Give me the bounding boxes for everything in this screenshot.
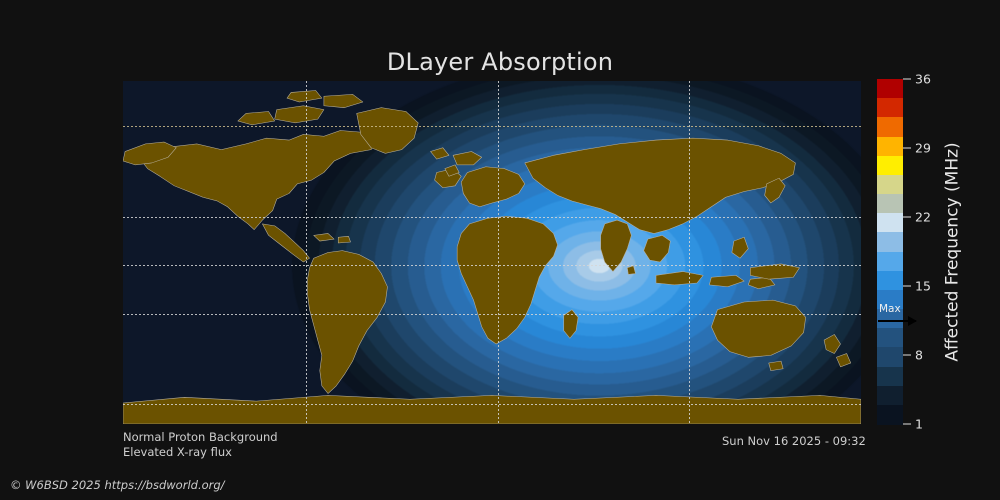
colorbar-tick-mark	[903, 216, 911, 218]
colorbar-max-marker: Max	[877, 303, 929, 333]
colorbar-tick-label: 36	[915, 72, 931, 87]
colorbar-tick-label: 15	[915, 279, 931, 294]
colorbar-tick-label: 1	[915, 417, 923, 432]
colorbar-tick-mark	[903, 147, 911, 149]
page-title: DLayer Absorption	[0, 48, 1000, 76]
colorbar-tick: 22	[903, 210, 931, 225]
colorbar-tick-label: 29	[915, 141, 931, 156]
status-line-proton: Normal Proton Background	[123, 430, 278, 444]
max-marker-arrow-icon	[878, 320, 916, 322]
app-root: DLayer Absorption	[0, 0, 1000, 500]
colorbar-band	[877, 79, 903, 99]
colorbar-tick: 15	[903, 279, 931, 294]
colorbar-tick: 8	[903, 348, 923, 363]
colorbar-tick: 36	[903, 72, 931, 87]
timestamp: Sun Nov 16 2025 - 09:32	[722, 434, 866, 448]
colorbar-band	[877, 213, 903, 233]
colorbar	[877, 79, 903, 424]
colorbar-band	[877, 386, 903, 406]
world-coastlines	[123, 81, 861, 424]
colorbar-band	[877, 405, 903, 425]
colorbar-band	[877, 194, 903, 214]
colorbar-tick: 29	[903, 141, 931, 156]
status-line-xray: Elevated X-ray flux	[123, 445, 232, 459]
colorbar-tick-label: 22	[915, 210, 931, 225]
colorbar-band	[877, 232, 903, 252]
colorbar-band	[877, 117, 903, 137]
colorbar-tick-mark	[903, 423, 911, 425]
colorbar-band	[877, 367, 903, 387]
colorbar-band	[877, 175, 903, 195]
colorbar-tick-mark	[903, 354, 911, 356]
colorbar-band	[877, 347, 903, 367]
colorbar-band	[877, 252, 903, 272]
colorbar-tick: 1	[903, 417, 923, 432]
colorbar-tick-mark	[903, 285, 911, 287]
colorbar-tick-label: 8	[915, 348, 923, 363]
max-marker-label: Max	[879, 303, 901, 315]
colorbar-axis-label: Affected Frequency (MHz)	[941, 79, 965, 424]
colorbar-band	[877, 137, 903, 157]
colorbar-tick-mark	[903, 78, 911, 80]
colorbar-band	[877, 156, 903, 176]
colorbar-band	[877, 271, 903, 291]
copyright-notice: © W6BSD 2025 https://bsdworld.org/	[10, 478, 225, 492]
world-map-panel[interactable]	[123, 81, 861, 424]
colorbar-band	[877, 98, 903, 118]
